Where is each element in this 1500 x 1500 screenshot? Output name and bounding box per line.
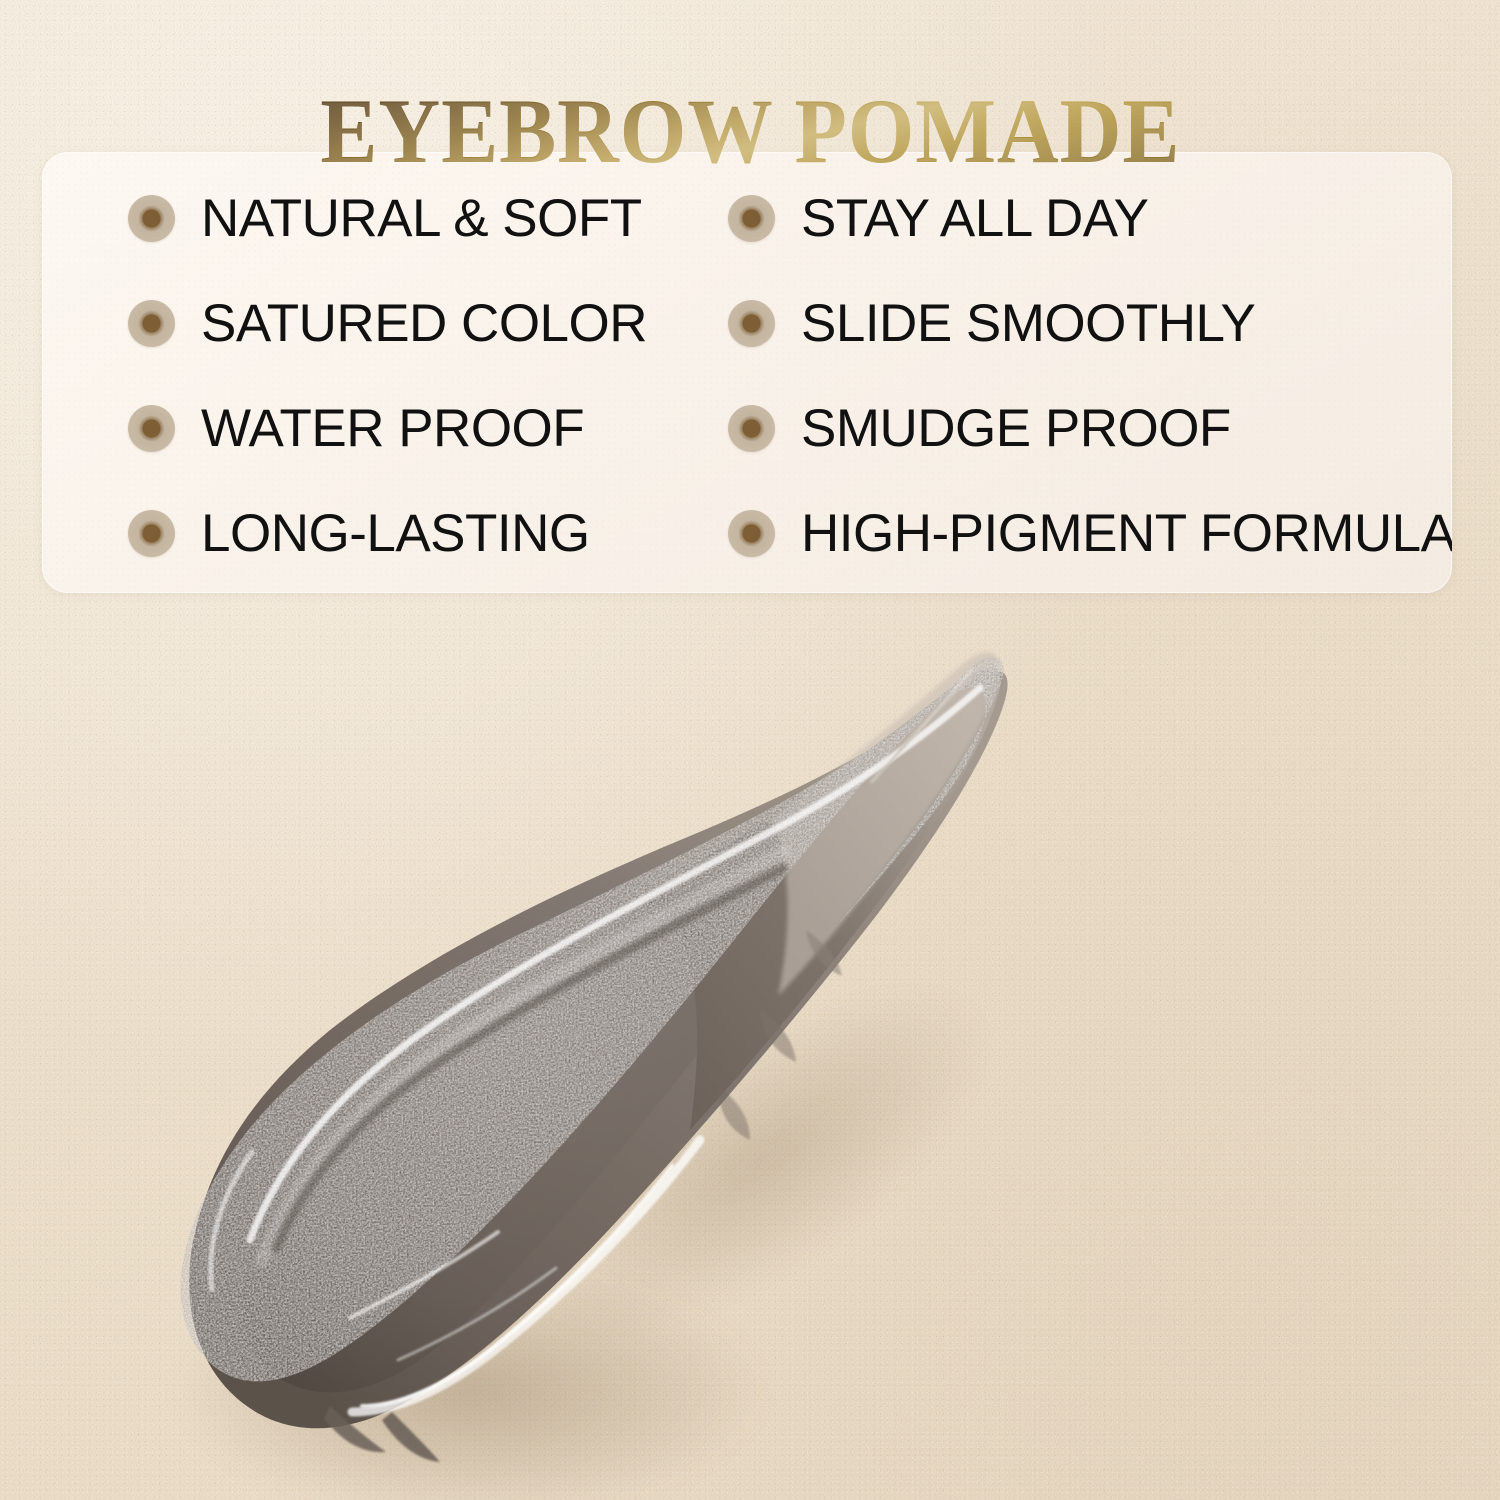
product-feature-page: EYEBROW POMADE NATURAL & SOFT STAY ALL D… bbox=[0, 0, 1500, 1500]
feature-label: HIGH-PIGMENT FORMULA bbox=[801, 507, 1452, 560]
filled-dot-icon bbox=[728, 405, 775, 452]
filled-dot-icon bbox=[728, 300, 775, 347]
pomade-smear-swatch bbox=[0, 600, 1500, 1500]
feature-item-high-pigment-formula: HIGH-PIGMENT FORMULA bbox=[728, 481, 1452, 586]
feature-label: WATER PROOF bbox=[201, 402, 584, 455]
feature-item-slide-smoothly: SLIDE SMOOTHLY bbox=[728, 271, 1452, 376]
page-title-container: EYEBROW POMADE bbox=[0, 22, 1500, 241]
page-title: EYEBROW POMADE bbox=[320, 84, 1180, 180]
filled-dot-icon bbox=[728, 510, 775, 557]
feature-label: SMUDGE PROOF bbox=[801, 402, 1231, 455]
feature-item-water-proof: WATER PROOF bbox=[128, 376, 728, 481]
feature-label: SLIDE SMOOTHLY bbox=[801, 297, 1255, 350]
filled-dot-icon bbox=[128, 510, 175, 557]
feature-item-satured-color: SATURED COLOR bbox=[128, 271, 728, 376]
feature-item-smudge-proof: SMUDGE PROOF bbox=[728, 376, 1452, 481]
feature-label: SATURED COLOR bbox=[201, 297, 647, 350]
product-swatch-stage bbox=[0, 600, 1500, 1500]
feature-item-long-lasting: LONG-LASTING bbox=[128, 481, 728, 586]
feature-label: LONG-LASTING bbox=[201, 507, 590, 560]
filled-dot-icon bbox=[128, 405, 175, 452]
filled-dot-icon bbox=[128, 300, 175, 347]
